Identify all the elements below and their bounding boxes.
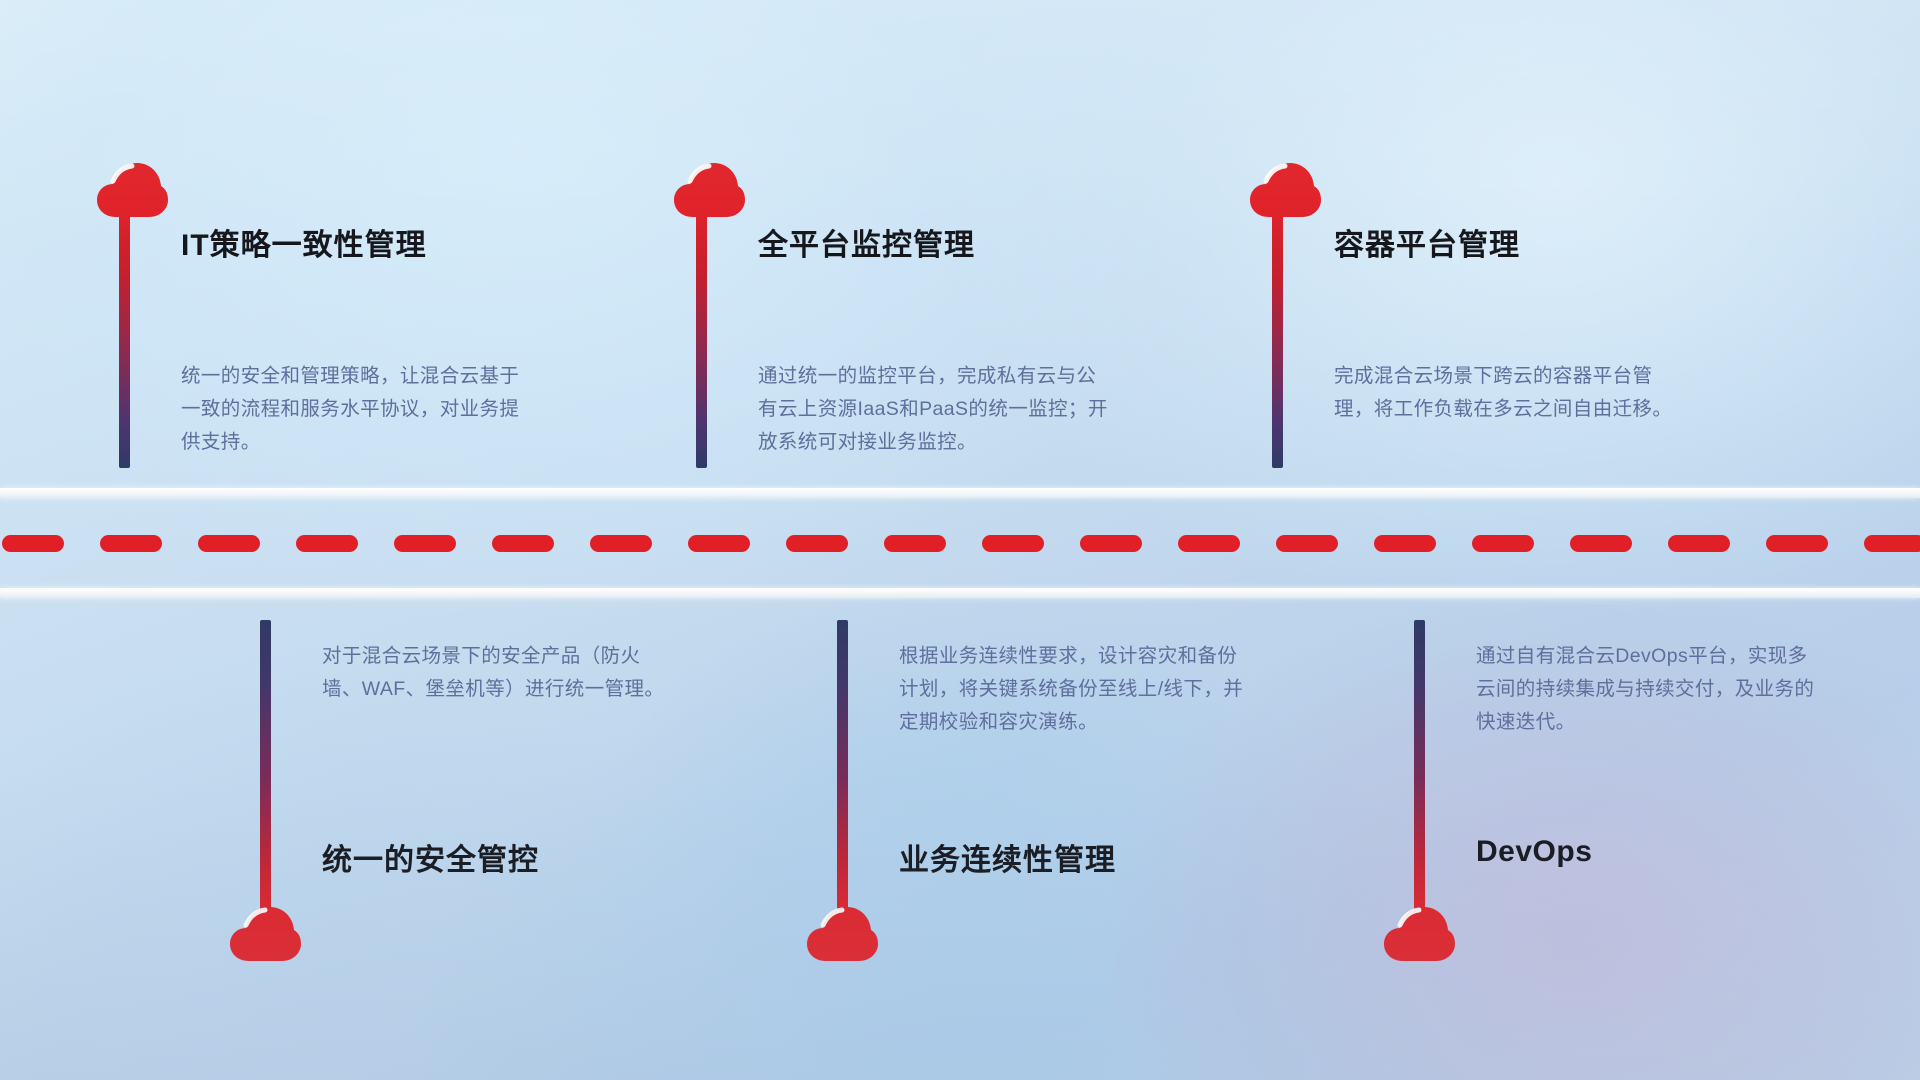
background-vignette: [0, 0, 1920, 1080]
infographic-canvas: IT策略一致性管理 统一的安全和管理策略，让混合云基于一致的流程和服务水平协议，…: [0, 0, 1920, 1080]
